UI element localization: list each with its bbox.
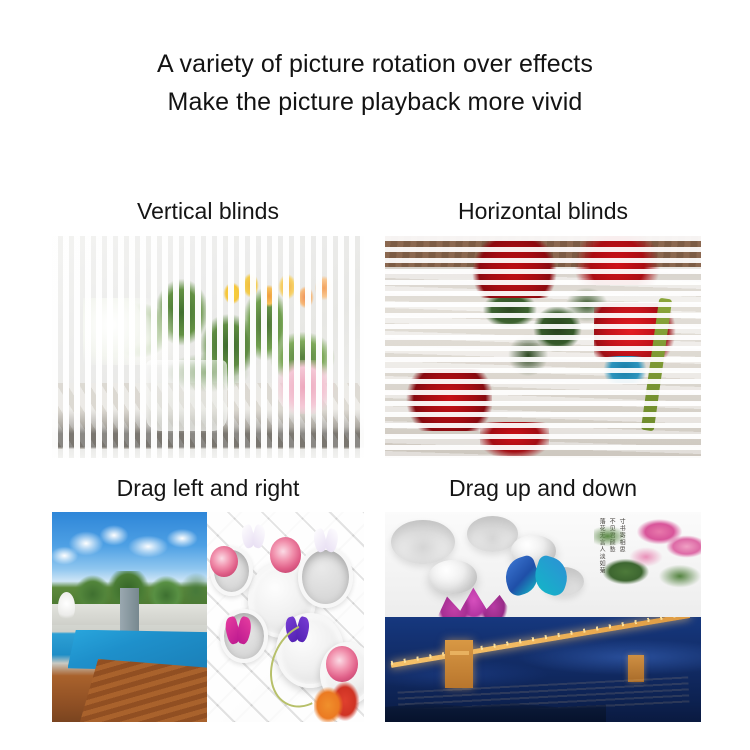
orange-tulip (314, 680, 361, 722)
wooden-deck (80, 659, 207, 722)
white-sphere-2 (467, 516, 518, 552)
white-sphere-1 (391, 520, 454, 564)
caption-drag-up-down: Drag up and down (385, 475, 701, 501)
pink-peonies (594, 514, 701, 588)
white-ring-2 (298, 546, 353, 609)
headline-block: A variety of picture rotation over effec… (0, 45, 750, 121)
headline-line-1: A variety of picture rotation over effec… (0, 45, 750, 83)
mural-rose-1 (270, 537, 301, 573)
circles-mural-photo (207, 512, 364, 722)
spheres-mural-photo: 寸书寄相思 不见君颜愁 落花无言人淡如菊 (385, 512, 701, 617)
stone-pillar (120, 588, 139, 634)
preview-drag-up-down[interactable]: 寸书寄相思 不见君颜愁 落花无言人淡如菊 (385, 512, 701, 722)
preview-vertical-blinds[interactable] (52, 236, 364, 458)
caption-drag-left-right: Drag left and right (52, 475, 364, 501)
clouds (52, 520, 207, 570)
white-sphere-4 (429, 560, 476, 594)
caption-vertical-blinds: Vertical blinds (52, 198, 364, 224)
headline-line-2: Make the picture playback more vivid (0, 83, 750, 121)
bridge-tower-near (445, 640, 473, 688)
promo-page: A variety of picture rotation over effec… (0, 0, 750, 750)
villa-pool-photo (52, 512, 207, 722)
butterfly-white-1 (242, 525, 266, 548)
horizontal-blinds-overlay (385, 236, 701, 458)
butterfly-white-2 (314, 529, 338, 552)
butterfly-magenta (226, 617, 251, 644)
preview-drag-left-right[interactable] (52, 512, 364, 722)
vertical-blinds-overlay (52, 236, 364, 458)
preview-horizontal-blinds[interactable] (385, 236, 701, 458)
night-bridge-photo (385, 617, 701, 722)
hanging-chair (58, 592, 75, 621)
caption-horizontal-blinds: Horizontal blinds (385, 198, 701, 224)
